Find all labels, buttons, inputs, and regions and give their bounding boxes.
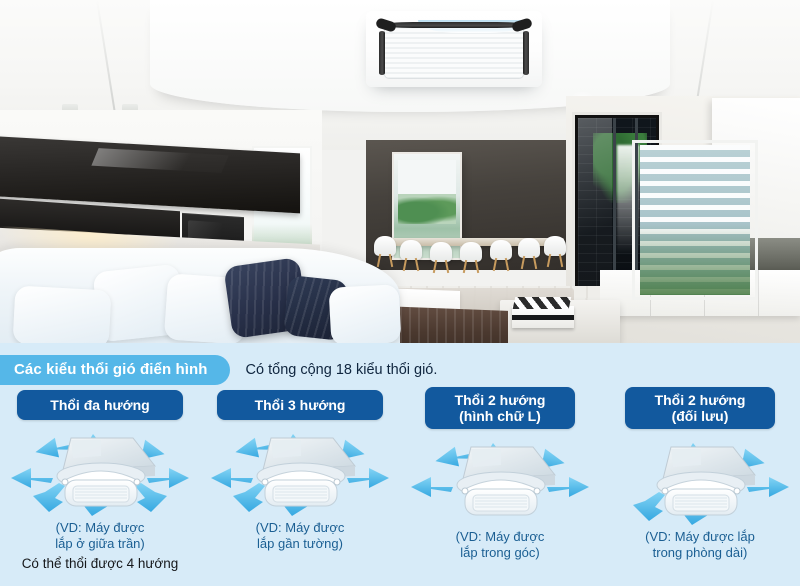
mode-button-multi-direction[interactable]: Thổi đa hướng — [17, 390, 183, 420]
airflow-diagram-svg — [5, 426, 195, 518]
diagram-air-flow-two-direction-l-shape — [405, 435, 595, 527]
sofa-cushion-white — [329, 284, 402, 343]
ceiling-cassette-ac-unit — [366, 11, 542, 87]
airflow-diagram-svg — [405, 435, 595, 527]
diagram-air-flow-two-direction-convection — [605, 435, 795, 527]
mirror-reflection-trees — [398, 194, 456, 224]
chair-leg — [415, 258, 419, 271]
chair-back — [544, 236, 566, 256]
chair-leg — [505, 258, 509, 271]
diagram-caption: (VD: Máy được lắp trong phòng dài) — [645, 529, 755, 561]
mode-button-two-direction-convection[interactable]: Thổi 2 hướng (đối lưu) — [625, 387, 775, 429]
chair-leg — [559, 254, 563, 267]
sofa-cushion-white — [13, 286, 112, 343]
ac-unit-diagram — [457, 447, 555, 515]
chair-back — [430, 242, 452, 262]
coffee-table-book — [512, 306, 574, 328]
diagram-air-flow-three-direction — [205, 426, 395, 518]
dining-chair — [400, 240, 422, 270]
chair-back — [518, 238, 540, 258]
dining-chair — [518, 238, 540, 268]
ac-unit-vane-top — [383, 22, 527, 28]
diagram-caption: (VD: Máy được lắp gần tường) — [256, 520, 345, 552]
chair-back — [400, 240, 422, 260]
chair-back — [460, 242, 482, 262]
louvre-greenery — [640, 223, 750, 295]
chair-back — [490, 240, 512, 260]
chair-leg — [445, 260, 449, 273]
panel-header: Các kiểu thổi gió điển hình Có tổng cộng… — [0, 355, 800, 385]
dining-chair — [460, 242, 482, 272]
airflow-column-two-direction-l: Thổi 2 hướng (hình chữ L) — [400, 387, 600, 585]
book-band — [512, 315, 574, 320]
panel-title-pill: Các kiểu thổi gió điển hình — [0, 355, 230, 385]
diagram-caption: (VD: Máy được lắp trong góc) — [456, 529, 545, 561]
airflow-diagram-svg — [605, 435, 795, 527]
ac-unit-corner-left — [375, 17, 397, 33]
chair-leg — [475, 260, 479, 273]
panel-subtitle: Có tổng cộng 18 kiểu thổi gió. — [246, 362, 438, 378]
mode-button-two-direction-l[interactable]: Thổi 2 hướng (hình chữ L) — [425, 387, 575, 429]
louvre-window — [640, 145, 750, 295]
airflow-columns: Thổi đa hướng — [0, 387, 800, 585]
airflow-column-three-direction: Thổi 3 hướng — [200, 387, 400, 585]
airflow-column-two-direction-convection: Thổi 2 hướng (đối lưu) — [600, 387, 800, 585]
dining-chair — [374, 236, 396, 266]
ac-unit-diagram — [257, 438, 355, 506]
dining-chair — [430, 242, 452, 272]
ac-unit-vane-right — [523, 31, 529, 75]
chair-leg — [533, 256, 537, 269]
ac-unit-vane-left — [379, 31, 385, 75]
airflow-diagram-svg — [205, 426, 395, 518]
mode-button-three-direction[interactable]: Thổi 3 hướng — [217, 390, 383, 420]
chair-back — [374, 236, 396, 256]
cabinet-seam — [758, 270, 759, 316]
page-root: Các kiểu thổi gió điển hình Có tổng cộng… — [0, 0, 800, 586]
chair-leg — [389, 254, 393, 267]
airflow-column-multi-direction: Thổi đa hướng — [0, 387, 200, 585]
cabinet-gloss — [92, 148, 229, 173]
ac-unit-diagram — [57, 438, 155, 506]
dining-chair — [544, 236, 566, 266]
hero-photo — [0, 0, 800, 343]
ac-unit-diagram — [657, 447, 755, 515]
diagram-note: Có thể thổi được 4 hướng — [22, 556, 179, 571]
diagram-caption: (VD: Máy được lắp ở giữa trần) — [55, 520, 145, 552]
mirror-reflection-sky — [398, 160, 456, 196]
diagram-air-flow-multi-direction — [5, 426, 195, 518]
airflow-patterns-panel: Các kiểu thổi gió điển hình Có tổng cộng… — [0, 343, 800, 586]
dining-chair — [490, 240, 512, 270]
